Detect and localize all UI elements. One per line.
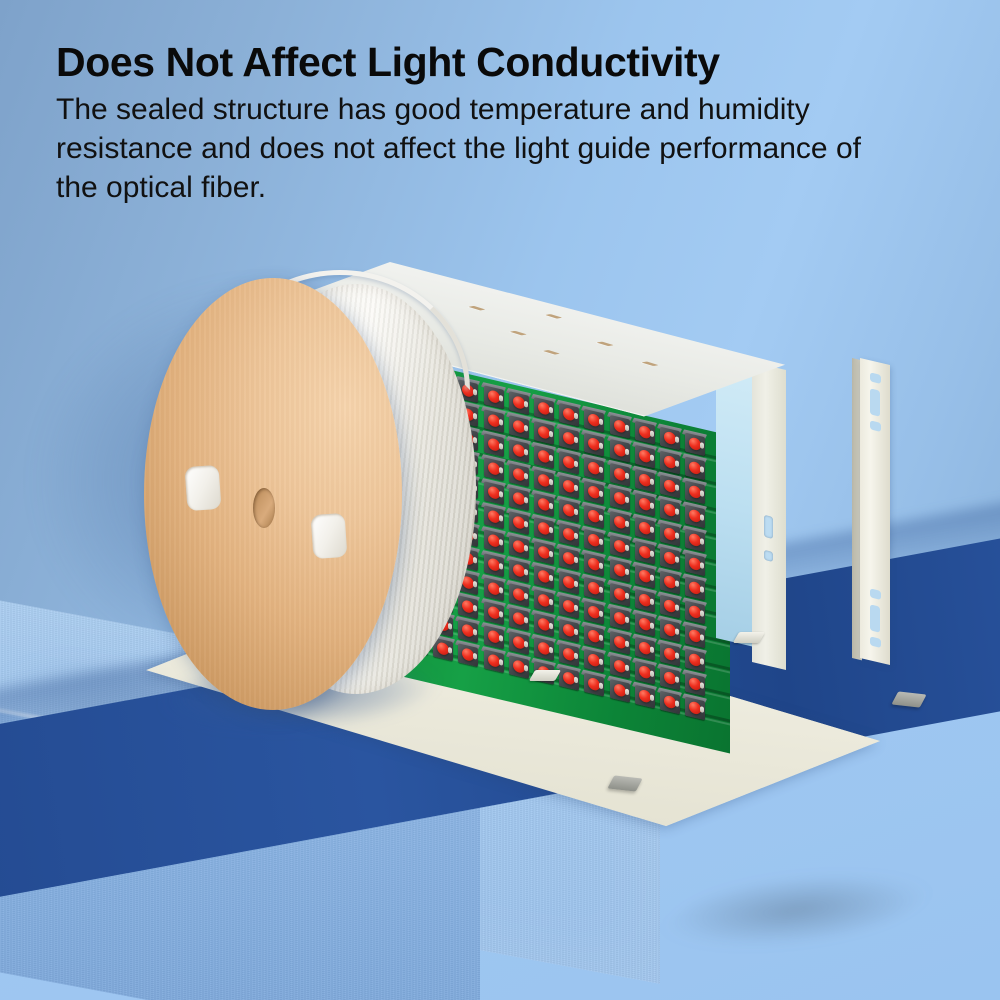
lid-vent-slot (543, 350, 560, 355)
post-slot (764, 550, 773, 562)
post-slot (764, 515, 773, 539)
lid-vent-slot (468, 306, 485, 311)
spool-front-grain (144, 278, 402, 710)
spool-hole-center (253, 488, 275, 528)
sc-adapter-port (507, 654, 531, 682)
rack-ear-slot (870, 636, 881, 648)
rack-ear-slot (870, 588, 881, 600)
spool-hole-right (311, 513, 348, 559)
rack-ear-slot (870, 604, 880, 632)
lid-vent-slot (510, 331, 527, 336)
sc-adapter-port (658, 689, 682, 717)
lid-vent-slot (597, 342, 614, 347)
rack-mount-ear (860, 358, 890, 665)
fiber-cable-spool (140, 278, 470, 728)
sc-adapter-port (608, 677, 632, 705)
page-subtitle: The sealed structure has good temperatur… (56, 90, 891, 207)
marketing-copy-block: Does Not Affect Light Conductivity The s… (56, 40, 956, 207)
sc-adapter-port (633, 683, 657, 711)
lid-vent-slot (545, 314, 562, 319)
rack-ear-slot (870, 388, 880, 416)
page-title: Does Not Affect Light Conductivity (56, 40, 956, 84)
rack-ear-slot (870, 420, 881, 432)
product-hero-scene: Does Not Affect Light Conductivity The s… (0, 0, 1000, 1000)
sc-adapter-port (582, 671, 606, 699)
spool-hole-left (185, 465, 222, 511)
enclosure-right-post (752, 362, 786, 670)
sc-adapter-port (683, 695, 707, 723)
rack-ear-slot (870, 372, 881, 384)
lid-vent-slot (641, 362, 658, 367)
